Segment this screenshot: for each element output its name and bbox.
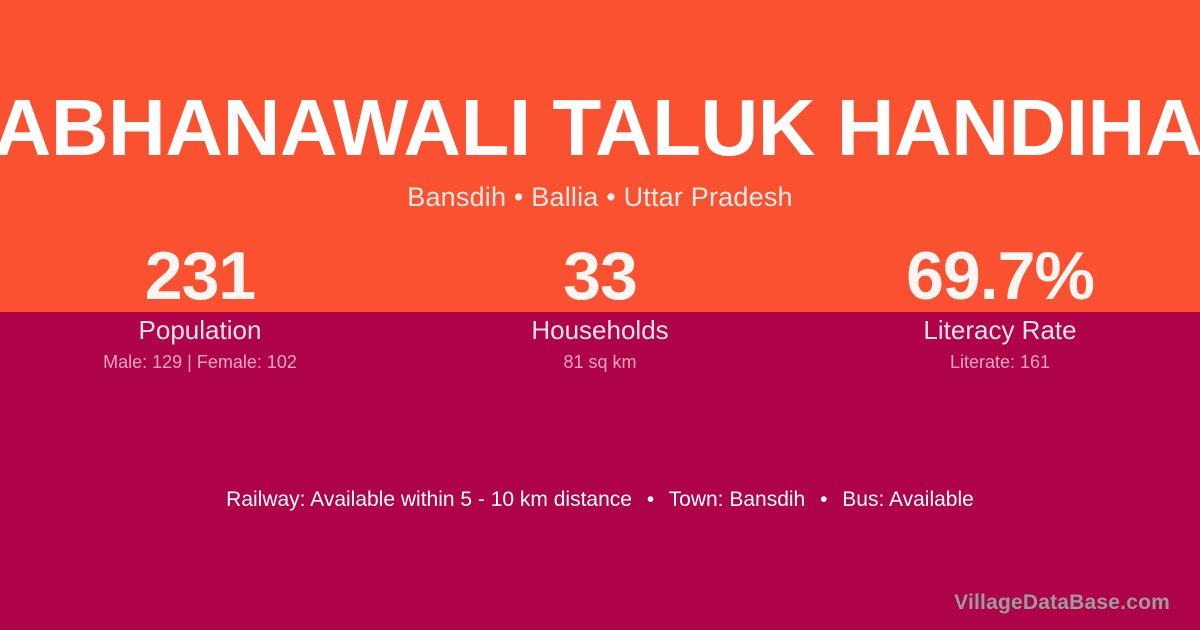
stat-label-population: Population xyxy=(0,314,400,346)
amenities-line: Railway: Available within 5 - 10 km dist… xyxy=(0,485,1200,515)
page-title: SABHANAWALI TALUK HANDIHAR xyxy=(0,88,1200,168)
stat-sub-households: 81 sq km xyxy=(400,351,800,373)
stats-row: 231 Population Male: 129 | Female: 102 3… xyxy=(0,240,1200,373)
amenity-town: Town: Bansdih xyxy=(669,488,806,511)
footer-brand-watermark: VillageDataBase.com xyxy=(954,590,1170,616)
stat-value-households: 33 xyxy=(400,240,800,312)
stat-block-literacy-rate: 69.7% Literacy Rate Literate: 161 xyxy=(800,240,1200,373)
breadcrumb: Bansdih • Ballia • Uttar Pradesh xyxy=(0,182,1200,213)
amenity-railway: Railway: Available within 5 - 10 km dist… xyxy=(226,488,632,511)
stat-block-households: 33 Households 81 sq km xyxy=(400,240,800,373)
stat-value-literacy-rate: 69.7% xyxy=(800,240,1200,312)
stat-sub-literacy-rate: Literate: 161 xyxy=(800,351,1200,373)
stat-label-literacy-rate: Literacy Rate xyxy=(800,314,1200,346)
village-info-card: SABHANAWALI TALUK HANDIHAR Bansdih • Bal… xyxy=(0,0,1200,630)
amenity-separator-1: • xyxy=(638,485,663,515)
stat-sub-population: Male: 129 | Female: 102 xyxy=(0,351,400,373)
stat-value-population: 231 xyxy=(0,240,400,312)
amenity-bus: Bus: Available xyxy=(842,488,974,511)
stat-block-population: 231 Population Male: 129 | Female: 102 xyxy=(0,240,400,373)
amenity-separator-2: • xyxy=(811,485,836,515)
stat-label-households: Households xyxy=(400,314,800,346)
